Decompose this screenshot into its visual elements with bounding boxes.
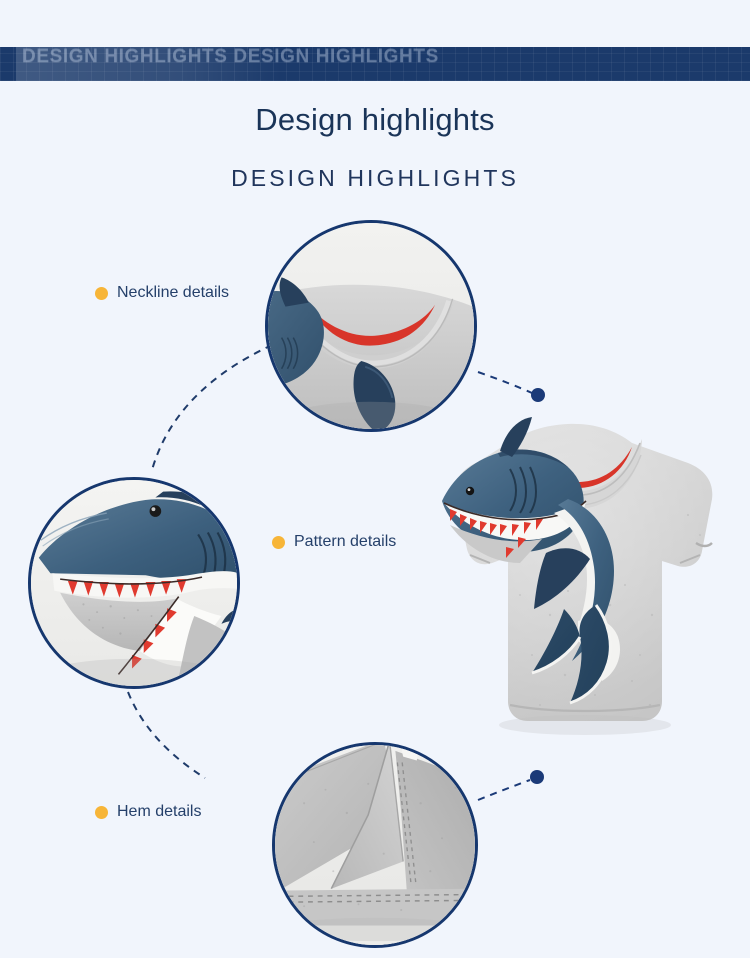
callout-label: Neckline details <box>117 284 229 302</box>
connector-pattern-to-hem <box>128 692 205 778</box>
inset-pattern-photo[interactable] <box>28 477 240 689</box>
connector-neckline-to-pattern <box>152 345 272 470</box>
shark-eye <box>466 487 474 495</box>
banner-ghost-text: DESIGN HIGHLIGHTS DESIGN HIGHLIGHTS <box>22 47 452 67</box>
bullet-dot-icon <box>95 806 108 819</box>
inset-hem-photo[interactable] <box>272 742 478 948</box>
callout-hem[interactable]: Hem details <box>95 803 201 821</box>
banner-sheen-overlay <box>16 47 281 81</box>
inset-neckline-photo[interactable] <box>265 220 477 432</box>
neckline-detail-illustration <box>268 223 474 429</box>
callout-neckline[interactable]: Neckline details <box>95 284 229 302</box>
top-banner: DESIGN HIGHLIGHTS DESIGN HIGHLIGHTS <box>0 47 750 81</box>
connector-hem-to-product <box>478 780 530 800</box>
hem-detail-illustration <box>275 745 475 945</box>
page-subtitle: DESIGN HIGHLIGHTS <box>0 165 750 192</box>
callout-label: Hem details <box>117 803 201 821</box>
pattern-detail-illustration <box>31 480 237 686</box>
connector-neckline-to-product <box>478 372 532 393</box>
page-title: Design highlights <box>0 102 750 138</box>
connector-dot-upper <box>531 388 545 402</box>
bullet-dot-icon <box>272 536 285 549</box>
banner-grid-texture <box>0 47 750 81</box>
callout-pattern[interactable]: Pattern details <box>272 533 396 551</box>
callout-label: Pattern details <box>294 533 396 551</box>
connector-dot-lower <box>530 770 544 784</box>
bullet-dot-icon <box>95 287 108 300</box>
product-photo-tshirt[interactable] <box>400 405 750 745</box>
tshirt-illustration <box>400 405 750 745</box>
